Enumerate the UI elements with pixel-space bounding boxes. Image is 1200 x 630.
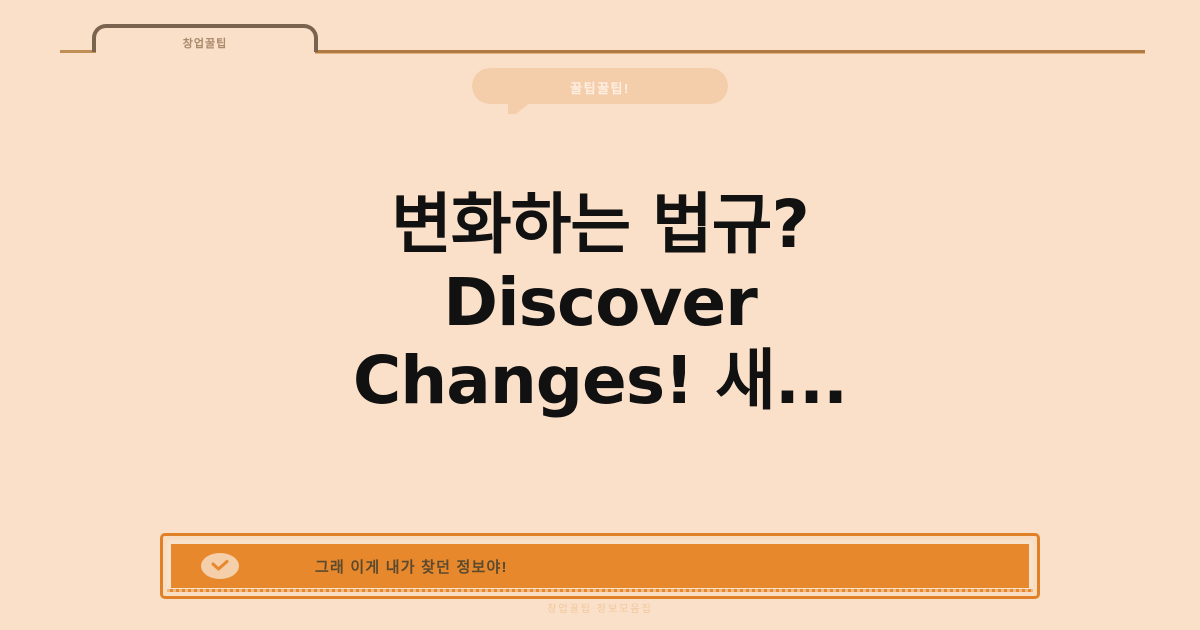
tab-label: 창업꿀팁: [96, 35, 314, 51]
tab-strip: 창업꿀팁: [0, 0, 1200, 70]
page-title: 변화하는 법규? Discover Changes! 새...: [0, 186, 1200, 420]
speech-bubble-tail-icon: [508, 101, 532, 114]
tab-baseline-left: [60, 50, 96, 53]
page-title-line-2: Discover: [0, 264, 1200, 342]
check-circle-icon: [201, 553, 239, 579]
speech-bubble-label: 꿀팁꿀팁!: [472, 78, 728, 97]
page-title-line-1: 변화하는 법규?: [0, 186, 1200, 264]
tab-baseline-right: [315, 50, 1145, 54]
cta-dashed-edge: [167, 589, 1033, 592]
cta-label: 그래 이게 내가 찾던 정보야!: [315, 556, 508, 577]
page-title-line-3: Changes! 새...: [0, 342, 1200, 420]
tab-changwup-kkultip[interactable]: 창업꿀팁: [92, 24, 318, 52]
footer-watermark: 창업꿀팁 정보모음집: [0, 600, 1200, 615]
speech-bubble: 꿀팁꿀팁!: [472, 68, 728, 104]
cta-banner[interactable]: 그래 이게 내가 찾던 정보야!: [167, 540, 1033, 592]
